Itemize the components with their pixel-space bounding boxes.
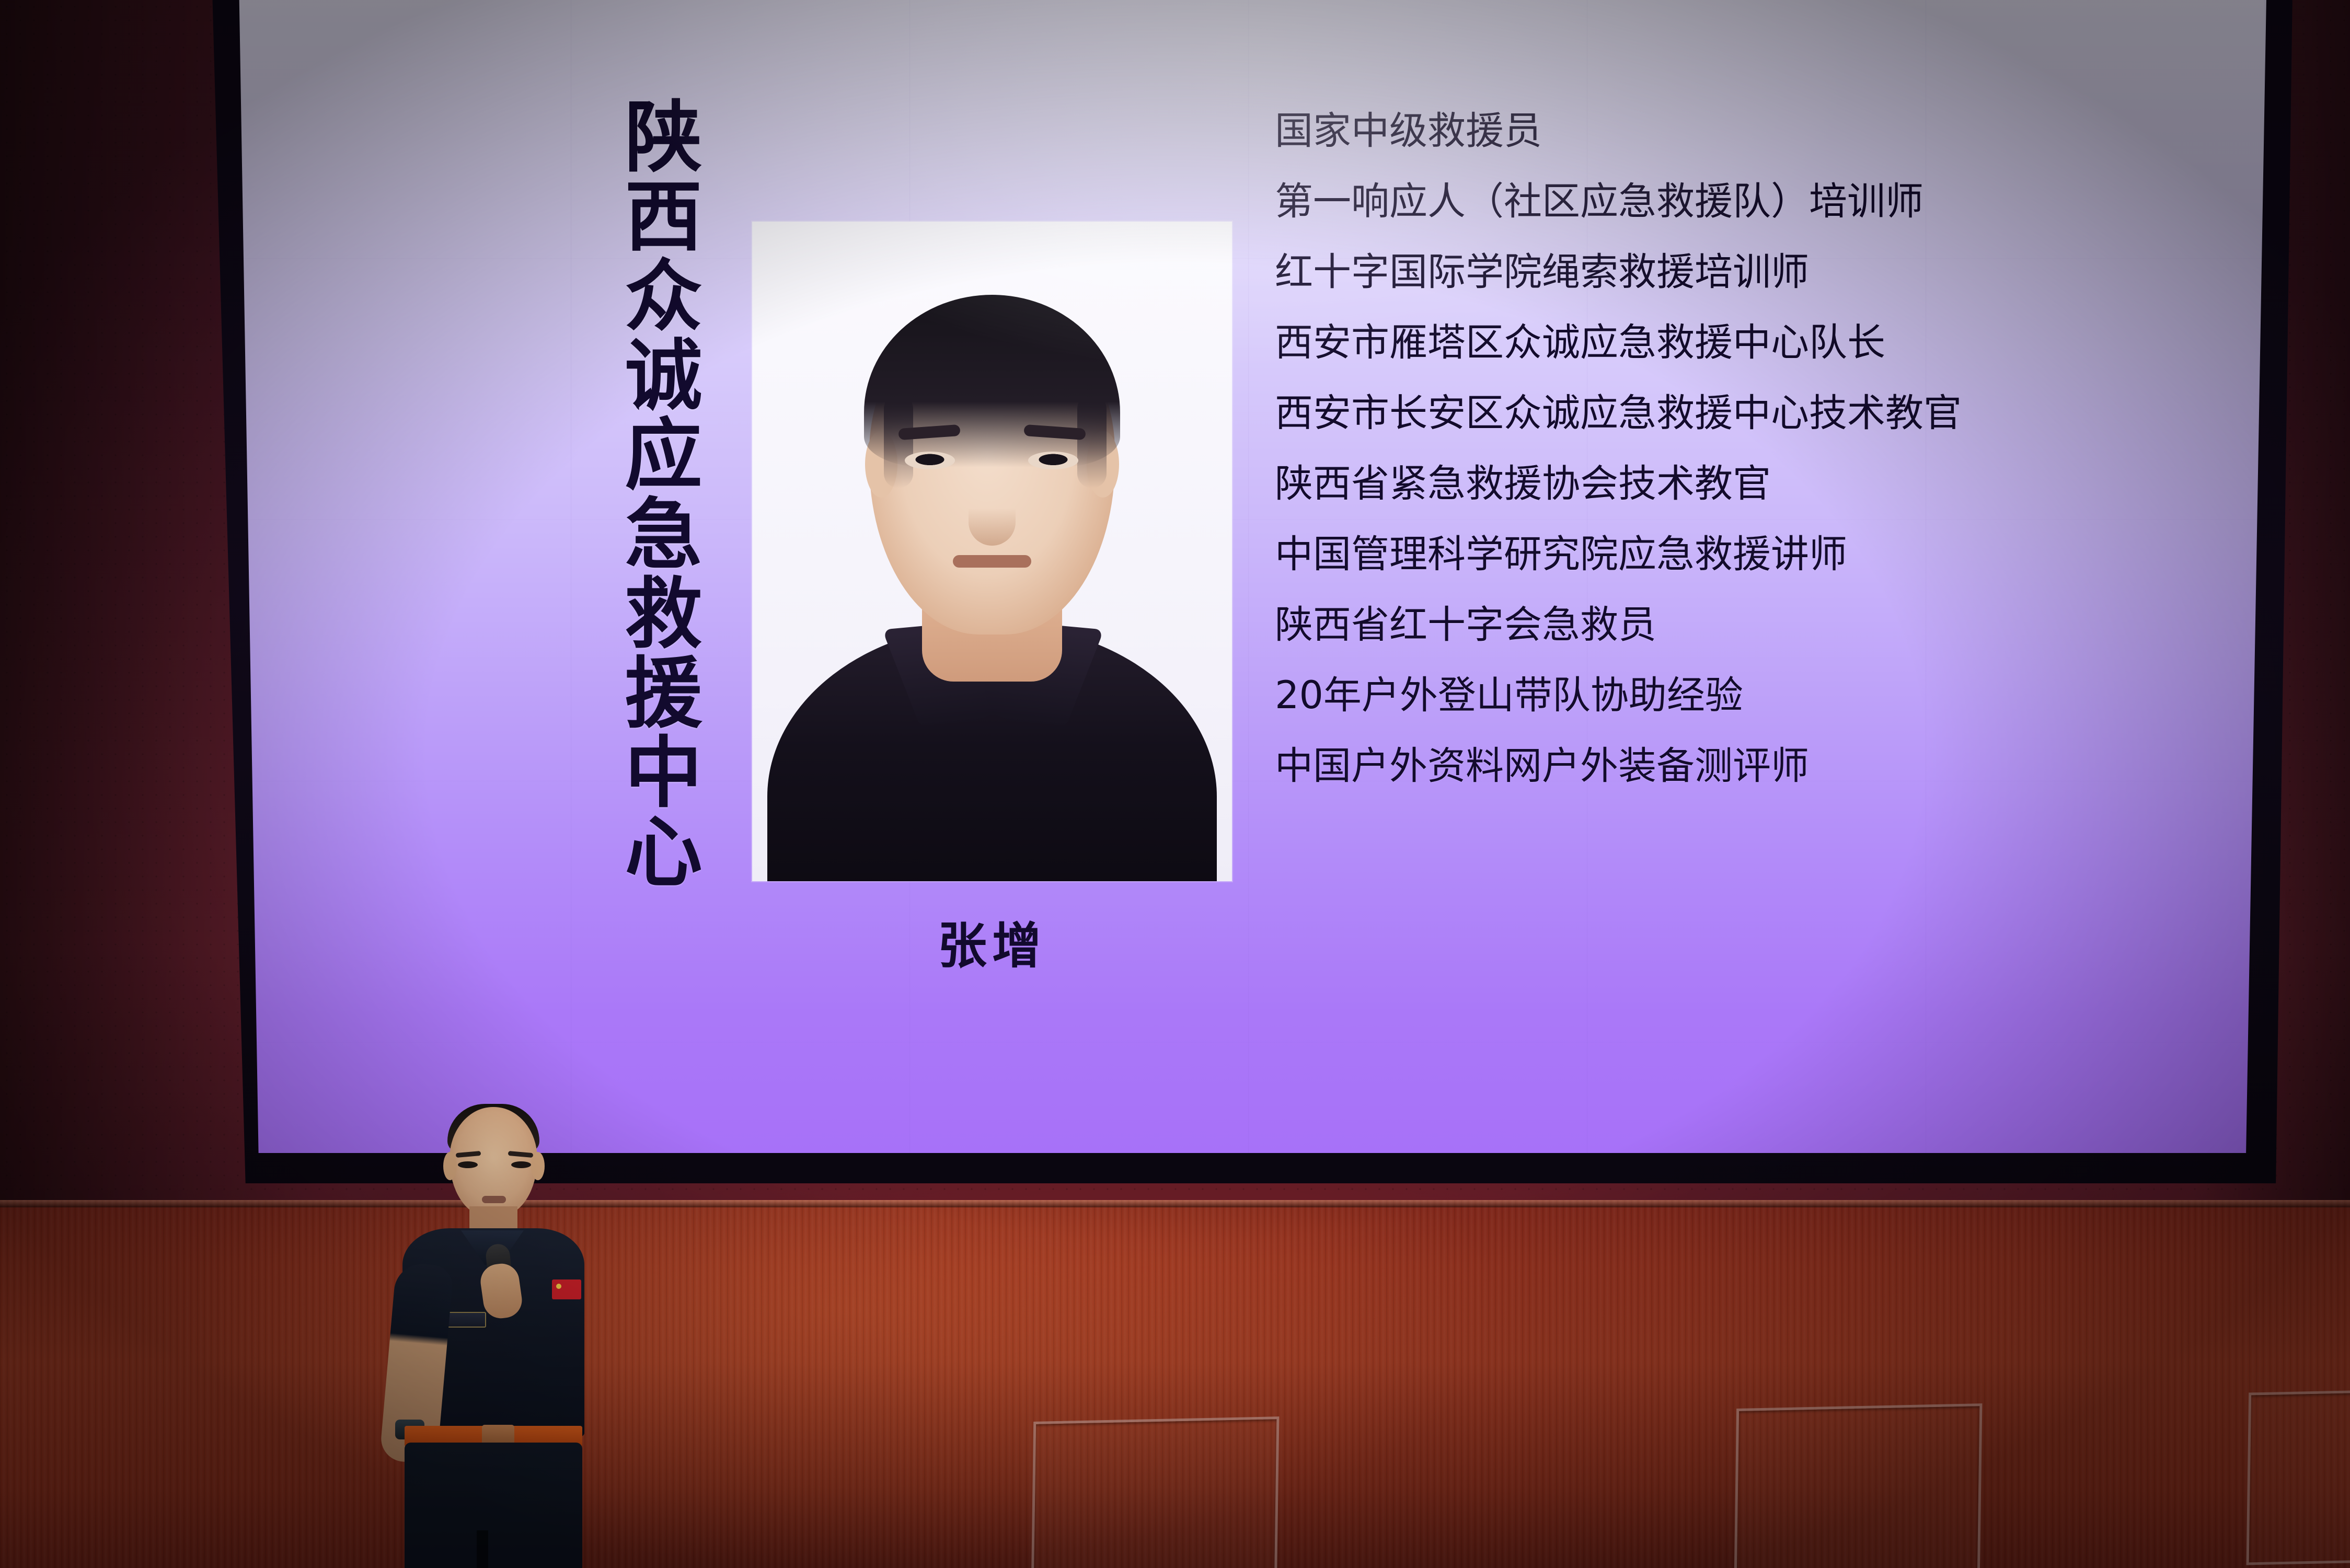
list-item: 陕西省紧急救援协会技术教官 [1275,465,2266,503]
list-item: 西安市长安区众诚应急救援中心技术教官 [1275,394,2266,432]
floor-wall-seam [0,1200,2350,1207]
floor-hatch-panel [1734,1403,1983,1568]
floor-hatch-panel [2247,1388,2350,1565]
list-item: 红十字国际学院绳索救援培训师 [1275,253,2266,291]
portrait-caption-name: 张增 [752,906,1232,977]
auditorium-scene: 陕西众诚应急救援中心 张增 国家中级救援员 第一响应人（社区应急救援队）培 [0,0,2350,1568]
floor-hatch-panel [1031,1416,1280,1568]
organization-vertical-title: 陕西众诚应急救援中心 [567,96,697,891]
portrait-photo [752,222,1232,881]
portrait-mouth [953,555,1031,568]
presenter-figure [374,1107,604,1568]
list-item: 西安市雁塔区众诚应急救援中心队长 [1275,324,2266,362]
credentials-list: 国家中级救援员 第一响应人（社区应急救援队）培训师 红十字国际学院绳索救援培训师… [1275,112,2266,817]
presenter-ear-right [531,1152,545,1180]
list-item: 国家中级救援员 [1275,112,2266,150]
portrait-eye-left [905,452,955,469]
portrait-eye-right [1028,452,1078,469]
projection-screen[interactable]: 陕西众诚应急救援中心 张增 国家中级救援员 第一响应人（社区应急救援队）培 [232,0,2266,1153]
list-item: 中国户外资料网户外装备测评师 [1275,747,2266,785]
list-item: 第一响应人（社区应急救援队）培训师 [1275,182,2266,221]
presenter-eye-right [511,1161,531,1168]
presenter-trousers [405,1443,582,1568]
presenter-eye-left [458,1161,478,1168]
list-item: 中国管理科学研究院应急救援讲师 [1275,535,2266,573]
list-item: 陕西省红十字会急救员 [1275,606,2266,644]
portrait-nose [969,483,1016,546]
presenter-leg-gap [477,1530,488,1568]
list-item: 20年户外登山带队协助经验 [1275,676,2266,714]
presenter-ear-left [443,1152,457,1180]
presenter-mouth [482,1196,506,1203]
